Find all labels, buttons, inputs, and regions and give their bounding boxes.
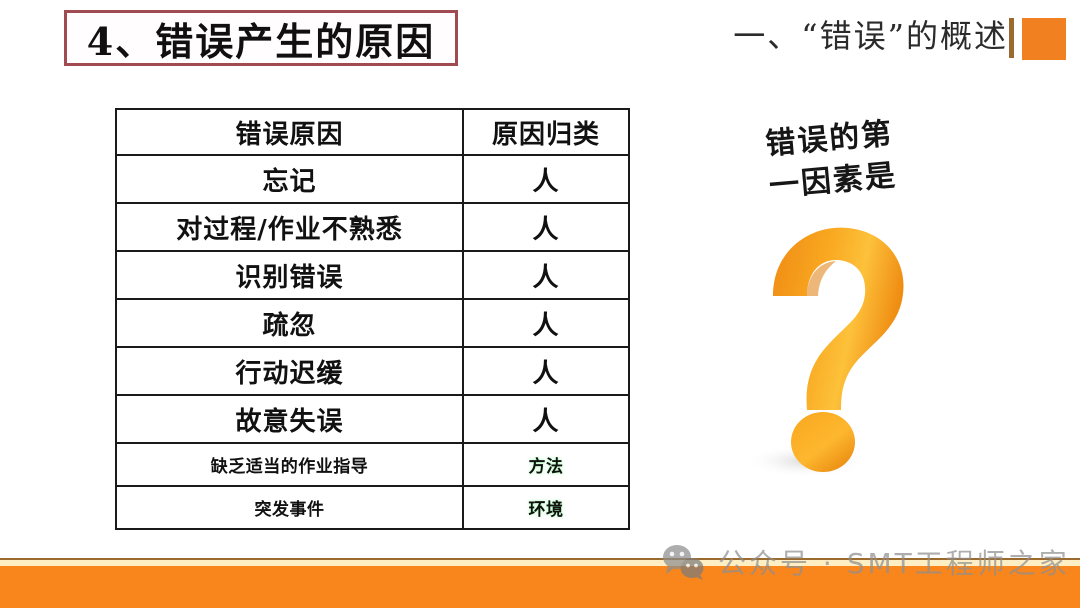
cell-category: 环境 <box>463 486 629 529</box>
cell-category: 人 <box>463 251 629 299</box>
cell-cause: 行动迟缓 <box>116 347 463 395</box>
cell-cause: 识别错误 <box>116 251 463 299</box>
table-row: 识别错误 人 <box>116 251 629 299</box>
table-row: 故意失误 人 <box>116 395 629 443</box>
slide-title-box: 4、错误产生的原因 <box>64 10 458 66</box>
table-header-row: 错误原因 原因归类 <box>116 109 629 155</box>
cell-category: 人 <box>463 155 629 203</box>
table-row: 忘记 人 <box>116 155 629 203</box>
cell-category: 人 <box>463 203 629 251</box>
cell-category: 人 <box>463 299 629 347</box>
cell-cause: 故意失误 <box>116 395 463 443</box>
cell-cause: 忘记 <box>116 155 463 203</box>
section-label: 一、“错误”的概述 <box>733 14 1008 58</box>
section-accent-square <box>1022 18 1066 60</box>
cell-cause: 突发事件 <box>116 486 463 529</box>
table-row: 疏忽 人 <box>116 299 629 347</box>
table-row: 突发事件 环境 <box>116 486 629 529</box>
cell-category: 人 <box>463 395 629 443</box>
watermark: 公众号 · SMT工程师之家 <box>662 542 1070 582</box>
slide-canvas: 4、错误产生的原因 一、“错误”的概述 错误原因 原因归类 忘记 人 对过程/作… <box>0 0 1080 608</box>
column-header-category: 原因归类 <box>463 109 629 155</box>
section-divider-bar <box>1009 18 1014 58</box>
question-mark-illustration <box>735 218 930 483</box>
cell-cause: 对过程/作业不熟悉 <box>116 203 463 251</box>
right-caption: 错误的第 一因素是 <box>723 110 940 212</box>
table-row: 行动迟缓 人 <box>116 347 629 395</box>
table-body: 忘记 人 对过程/作业不熟悉 人 识别错误 人 疏忽 人 行动迟缓 人 故意失误… <box>116 155 629 529</box>
wechat-icon <box>662 544 706 580</box>
error-cause-table: 错误原因 原因归类 忘记 人 对过程/作业不熟悉 人 识别错误 人 疏忽 人 行 <box>115 108 630 530</box>
watermark-text: 公众号 · SMT工程师之家 <box>718 542 1070 582</box>
table-row: 对过程/作业不熟悉 人 <box>116 203 629 251</box>
cell-category: 方法 <box>463 443 629 486</box>
column-header-cause: 错误原因 <box>116 109 463 155</box>
page-title: 4、错误产生的原因 <box>67 13 455 63</box>
cell-cause: 疏忽 <box>116 299 463 347</box>
question-mark-icon <box>735 218 930 483</box>
cell-cause: 缺乏适当的作业指导 <box>116 443 463 486</box>
table-row: 缺乏适当的作业指导 方法 <box>116 443 629 486</box>
cell-category: 人 <box>463 347 629 395</box>
